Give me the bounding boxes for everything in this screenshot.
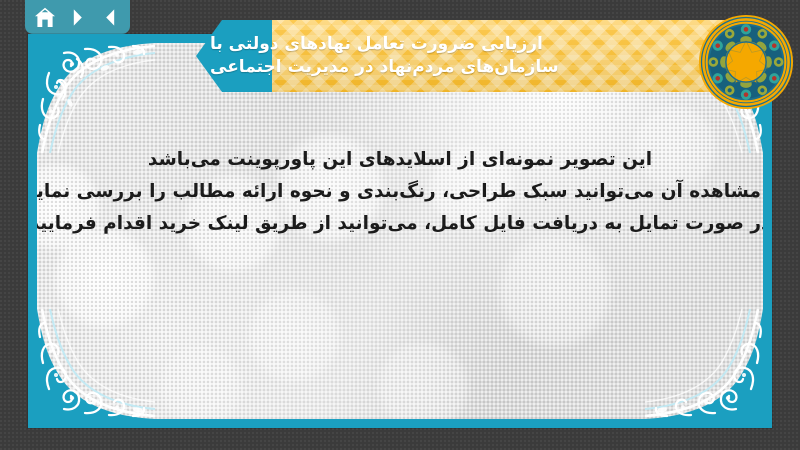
- right-arrow-icon: [68, 8, 87, 27]
- home-icon: [34, 7, 56, 28]
- arabesque-corner-flourish: [37, 309, 155, 419]
- slide-viewer: این تصویر نمونه‌ای از اسلایدهای این پاور…: [0, 0, 800, 450]
- slide-title-banner: ارزیابی ضرورت تعامل نهادهای دولتی با ساز…: [196, 20, 762, 92]
- slide-frame: این تصویر نمونه‌ای از اسلایدهای این پاور…: [28, 34, 772, 428]
- arabesque-corner-flourish: [37, 43, 155, 153]
- slide-body-text: این تصویر نمونه‌ای از اسلایدهای این پاور…: [77, 147, 723, 237]
- title-line-2: سازمان‌های مردم‌نهاد در مدیریت اجتماعی: [210, 56, 559, 79]
- bokeh-circle: [375, 339, 471, 419]
- home-slide-button[interactable]: [32, 5, 58, 29]
- slide-canvas: این تصویر نمونه‌ای از اسلایدهای این پاور…: [37, 43, 763, 419]
- arabesque-corner-flourish: [645, 309, 763, 419]
- body-line-1: این تصویر نمونه‌ای از اسلایدهای این پاور…: [148, 147, 652, 174]
- slide-navigation-toolbar: [25, 0, 130, 34]
- slide-title: ارزیابی ضرورت تعامل نهادهای دولتی با ساز…: [196, 20, 762, 92]
- body-line-3: در صورت تمایل به دریافت فایل کامل، می‌تو…: [37, 211, 763, 238]
- bokeh-circle: [157, 343, 245, 419]
- bokeh-circle: [495, 231, 615, 351]
- next-slide-button[interactable]: [65, 5, 91, 29]
- title-line-1: ارزیابی ضرورت تعامل نهادهای دولتی با: [210, 33, 543, 56]
- previous-slide-button[interactable]: [98, 5, 124, 29]
- body-line-2: با مشاهده آن می‌توانید سبک طراحی، رنگ‌بن…: [37, 179, 763, 206]
- bokeh-circle: [51, 225, 157, 331]
- persian-medallion-ornament: [698, 14, 794, 110]
- left-arrow-icon: [101, 8, 120, 27]
- bokeh-circle: [245, 287, 343, 385]
